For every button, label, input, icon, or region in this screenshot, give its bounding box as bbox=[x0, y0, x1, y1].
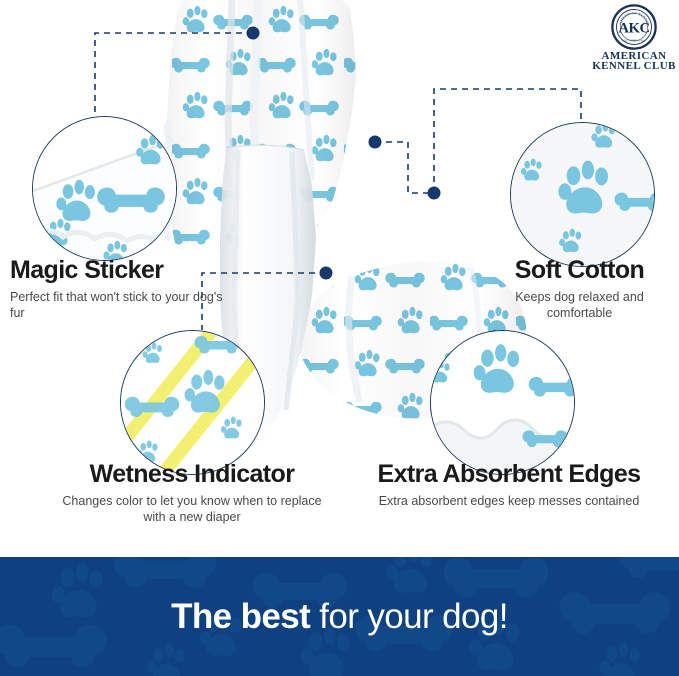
feature-title-soft-cotton: Soft Cotton bbox=[483, 256, 676, 284]
callout-markers bbox=[247, 27, 441, 280]
feature-extra-absorbent-edges: Extra Absorbent Edges Extra absorbent ed… bbox=[344, 460, 674, 509]
feature-title-wetness-indicator: Wetness Indicator bbox=[62, 460, 322, 488]
marker-soft-cotton bbox=[428, 187, 441, 200]
feature-title-extra-absorbent-edges: Extra Absorbent Edges bbox=[344, 460, 674, 488]
callout-extra-absorbent-edges bbox=[430, 330, 575, 475]
feature-desc-wetness-indicator: Changes color to let you know when to re… bbox=[62, 493, 322, 525]
feature-desc-magic-sticker: Perfect fit that won't stick to your dog… bbox=[10, 289, 225, 321]
marker-wetness-indicator bbox=[320, 267, 333, 280]
svg-text:AKC: AKC bbox=[618, 21, 649, 37]
feature-soft-cotton: Soft Cotton Keeps dog relaxed and comfor… bbox=[483, 256, 676, 321]
feature-wetness-indicator: Wetness Indicator Changes color to let y… bbox=[62, 460, 322, 525]
feature-desc-soft-cotton: Keeps dog relaxed and comfortable bbox=[483, 289, 676, 321]
bottom-banner: The best for your dog! bbox=[0, 557, 679, 676]
callout-magic-sticker bbox=[32, 116, 177, 261]
connector-edges-bridge bbox=[375, 142, 434, 193]
banner-text-light: for your dog! bbox=[319, 597, 508, 637]
svg-text:FOUNDED 1884: FOUNDED 1884 bbox=[622, 40, 646, 43]
akc-name-line2: KENNEL CLUB bbox=[592, 61, 676, 71]
akc-logo: AMERICAN KENNEL CLUB AKC FOUNDED 1884 AM… bbox=[592, 4, 676, 72]
connector-magic-sticker bbox=[95, 33, 253, 116]
marker-magic-sticker bbox=[247, 27, 260, 40]
feature-desc-extra-absorbent-edges: Extra absorbent edges keep messes contai… bbox=[344, 493, 674, 509]
marker-absorbent-edge bbox=[369, 136, 382, 149]
feature-title-magic-sticker: Magic Sticker bbox=[10, 256, 225, 284]
banner-text: The best for your dog! bbox=[0, 557, 679, 676]
callout-soft-cotton bbox=[510, 122, 655, 267]
product-infographic: AMERICAN KENNEL CLUB AKC FOUNDED 1884 AM… bbox=[0, 0, 679, 676]
akc-seal-icon: AMERICAN KENNEL CLUB AKC FOUNDED 1884 bbox=[611, 4, 657, 50]
feature-magic-sticker: Magic Sticker Perfect fit that won't sti… bbox=[10, 256, 225, 321]
diaper-sticker-closeup-icon bbox=[33, 117, 176, 260]
paw-print-closeup-icon bbox=[511, 123, 654, 266]
callout-wetness-indicator bbox=[120, 330, 265, 475]
banner-text-bold: The best bbox=[171, 597, 310, 637]
wetness-stripe-closeup-icon bbox=[121, 331, 264, 474]
ruffled-edge-closeup-icon bbox=[431, 331, 574, 474]
